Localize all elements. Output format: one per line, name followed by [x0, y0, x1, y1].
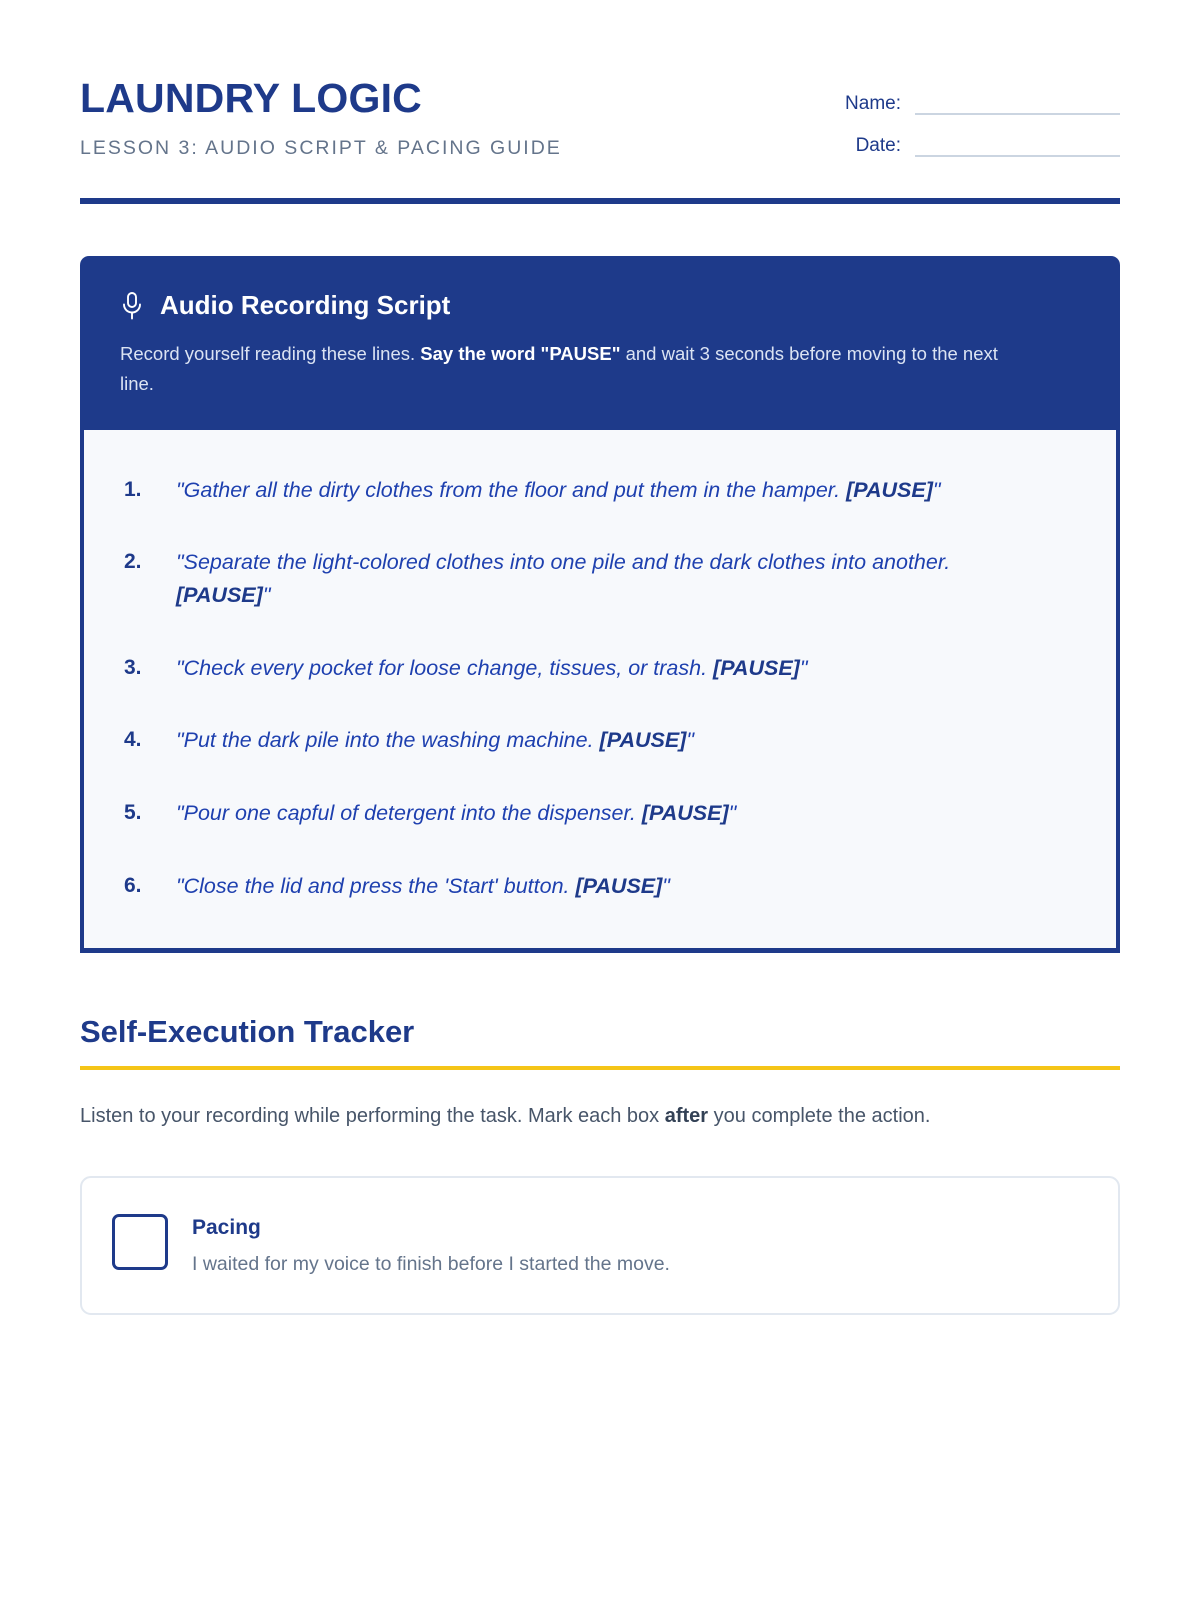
tracker-description-bold: after — [665, 1105, 708, 1127]
name-field[interactable]: Name: — [820, 94, 1120, 115]
script-line-pause-marker: [PAUSE] — [176, 583, 263, 607]
audio-script-card: Audio Recording Script Record yourself r… — [80, 256, 1120, 953]
audio-script-card-header: Audio Recording Script Record yourself r… — [80, 256, 1120, 429]
script-line-text-after: " — [263, 583, 271, 607]
audio-script-card-body: 1. "Gather all the dirty clothes from th… — [80, 430, 1120, 954]
name-write-line[interactable] — [915, 113, 1120, 115]
script-line-number: 1. — [124, 474, 158, 506]
script-line-text-before: "Separate the light-colored clothes into… — [176, 550, 950, 574]
script-line-text: "Pour one capful of detergent into the d… — [176, 797, 736, 830]
script-line-pause-marker: [PAUSE] — [600, 728, 687, 752]
tracker-description: Listen to your recording while performin… — [80, 1100, 1080, 1134]
script-line-item: 5. "Pour one capful of detergent into th… — [124, 797, 1076, 830]
script-line-number: 5. — [124, 797, 158, 829]
tracker-item-title: Pacing — [192, 1216, 261, 1239]
self-execution-tracker-section: Self-Execution Tracker Listen to your re… — [80, 1015, 1120, 1315]
script-line-text-before: "Check every pocket for loose change, ti… — [176, 656, 713, 680]
script-line-text-after: " — [933, 478, 941, 502]
tracker-description-after: you complete the action. — [708, 1105, 930, 1127]
script-line-number: 6. — [124, 870, 158, 902]
tracker-item-text-block: Pacing I waited for my voice to finish b… — [192, 1212, 670, 1280]
audio-script-description-bold: Say the word "PAUSE" — [420, 343, 620, 364]
tracker-checklist-item[interactable]: Pacing I waited for my voice to finish b… — [112, 1212, 1084, 1280]
script-line-number: 4. — [124, 724, 158, 756]
header-divider — [80, 198, 1120, 204]
date-field[interactable]: Date: — [820, 136, 1120, 157]
script-line-text-before: "Put the dark pile into the washing mach… — [176, 728, 600, 752]
date-label: Date: — [856, 136, 901, 157]
script-line-text: "Check every pocket for loose change, ti… — [176, 652, 807, 685]
audio-script-description: Record yourself reading these lines. Say… — [120, 339, 1020, 399]
title-block: LAUNDRY LOGIC LESSON 3: AUDIO SCRIPT & P… — [80, 70, 562, 160]
page-subtitle: LESSON 3: AUDIO SCRIPT & PACING GUIDE — [80, 137, 562, 160]
script-line-item: 4. "Put the dark pile into the washing m… — [124, 724, 1076, 757]
student-meta-block: Name: Date: — [820, 70, 1120, 157]
date-write-line[interactable] — [915, 155, 1120, 157]
page-title: LAUNDRY LOGIC — [80, 76, 562, 120]
script-line-pause-marker: [PAUSE] — [713, 656, 800, 680]
script-line-text-before: "Close the lid and press the 'Start' but… — [176, 874, 575, 898]
script-line-text-after: " — [662, 874, 670, 898]
script-line-text-after: " — [800, 656, 808, 680]
tracker-checkbox[interactable] — [112, 1214, 168, 1270]
script-line-item: 2. "Separate the light-colored clothes i… — [124, 546, 1076, 611]
script-line-number: 3. — [124, 652, 158, 684]
script-line-text: "Close the lid and press the 'Start' but… — [176, 870, 670, 903]
audio-script-heading-text: Audio Recording Script — [160, 290, 450, 321]
script-line-text: "Gather all the dirty clothes from the f… — [176, 474, 941, 507]
tracker-checklist-card: Pacing I waited for my voice to finish b… — [80, 1176, 1120, 1316]
script-line-pause-marker: [PAUSE] — [642, 801, 729, 825]
script-line-number: 2. — [124, 546, 158, 578]
tracker-item-description: I waited for my voice to finish before I… — [192, 1250, 670, 1279]
audio-script-description-before: Record yourself reading these lines. — [120, 343, 420, 364]
script-line-pause-marker: [PAUSE] — [846, 478, 933, 502]
tracker-description-before: Listen to your recording while performin… — [80, 1105, 665, 1127]
worksheet-page: LAUNDRY LOGIC LESSON 3: AUDIO SCRIPT & P… — [0, 0, 1200, 1600]
script-line-text-before: "Pour one capful of detergent into the d… — [176, 801, 642, 825]
script-line-item: 3. "Check every pocket for loose change,… — [124, 652, 1076, 685]
microphone-icon — [120, 291, 144, 321]
script-line-text-after: " — [729, 801, 737, 825]
page-header: LAUNDRY LOGIC LESSON 3: AUDIO SCRIPT & P… — [80, 70, 1120, 160]
name-label: Name: — [845, 94, 901, 115]
script-line-text: "Separate the light-colored clothes into… — [176, 546, 1006, 611]
script-line-pause-marker: [PAUSE] — [575, 874, 662, 898]
script-line-item: 6. "Close the lid and press the 'Start' … — [124, 870, 1076, 903]
audio-script-heading-row: Audio Recording Script — [120, 290, 1080, 321]
script-line-text-after: " — [686, 728, 694, 752]
script-line-item: 1. "Gather all the dirty clothes from th… — [124, 474, 1076, 507]
script-line-text-before: "Gather all the dirty clothes from the f… — [176, 478, 846, 502]
tracker-divider — [80, 1066, 1120, 1070]
script-line-list: 1. "Gather all the dirty clothes from th… — [124, 474, 1076, 903]
tracker-title: Self-Execution Tracker — [80, 1015, 1120, 1049]
script-line-text: "Put the dark pile into the washing mach… — [176, 724, 694, 757]
